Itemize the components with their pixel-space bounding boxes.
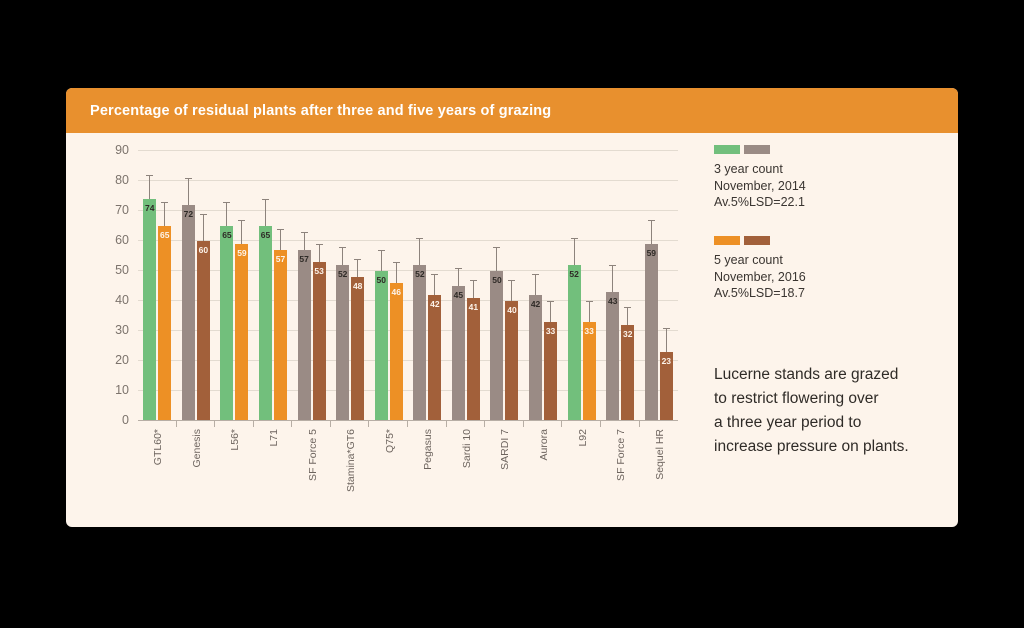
bar-value-label: 42 xyxy=(531,299,540,309)
y-tick-label: 40 xyxy=(115,293,129,307)
x-label-cell: Sardi 10 xyxy=(447,427,486,522)
x-tick-label: GTL60* xyxy=(152,429,164,465)
bar[interactable]: 72 xyxy=(182,205,195,421)
plot-area: 0102030405060708090 74657260655965575753… xyxy=(138,151,678,421)
x-tick-label: L71 xyxy=(268,429,280,447)
legend-line-1: 5 year count xyxy=(714,252,806,269)
bar-value-label: 52 xyxy=(338,269,347,279)
error-bar-cap xyxy=(508,280,515,281)
error-bar-cap xyxy=(223,202,230,203)
legend-swatches xyxy=(714,236,806,245)
error-bar-cap xyxy=(571,238,578,239)
x-tick-label: L56* xyxy=(229,429,241,451)
bar[interactable]: 60 xyxy=(197,241,210,421)
error-bar xyxy=(304,232,305,250)
caption-text: Lucerne stands are grazed to restrict fl… xyxy=(714,363,954,459)
bar[interactable]: 43 xyxy=(606,292,619,421)
bar-group[interactable]: 6557 xyxy=(254,151,293,421)
error-bar xyxy=(627,307,628,325)
bar-value-label: 57 xyxy=(299,254,308,264)
bar-group[interactable]: 7465 xyxy=(138,151,177,421)
bar[interactable]: 52 xyxy=(413,265,426,421)
bar-value-label: 33 xyxy=(546,326,555,336)
bar-value-label: 23 xyxy=(662,356,671,366)
bar[interactable]: 57 xyxy=(298,250,311,421)
x-tick-label: Genesis xyxy=(191,429,203,468)
bar-group[interactable]: 7260 xyxy=(177,151,216,421)
bar-group[interactable]: 4233 xyxy=(524,151,563,421)
bar-group[interactable]: 4332 xyxy=(601,151,640,421)
legend-entry-3-year: 3 year count November, 2014 Av.5%LSD=22.… xyxy=(714,145,806,211)
error-bar-cap xyxy=(493,247,500,248)
bar-value-label: 57 xyxy=(276,254,285,264)
error-bar-cap xyxy=(455,268,462,269)
bar[interactable]: 53 xyxy=(313,262,326,421)
error-bar xyxy=(164,202,165,226)
bar-value-label: 48 xyxy=(353,281,362,291)
bar[interactable]: 42 xyxy=(529,295,542,421)
caption-line-3: a three year period to xyxy=(714,411,954,435)
error-bar xyxy=(574,238,575,265)
bar-chart: 0102030405060708090 74657260655965575753… xyxy=(66,133,686,527)
x-tick-label: Aurora xyxy=(538,429,550,461)
y-tick-label: 20 xyxy=(115,353,129,367)
x-label-cell: Sequel HR xyxy=(640,427,679,522)
bar-value-label: 65 xyxy=(222,230,231,240)
bar-value-label: 50 xyxy=(377,275,386,285)
error-bar xyxy=(396,262,397,283)
bar-value-label: 45 xyxy=(454,290,463,300)
x-tick-label: Pegasus xyxy=(422,429,434,470)
bar-groups: 7465726065596557575352485046524245415040… xyxy=(138,151,678,421)
error-bar xyxy=(612,265,613,292)
error-bar-cap xyxy=(416,238,423,239)
panel-body: 0102030405060708090 74657260655965575753… xyxy=(66,133,958,527)
error-bar xyxy=(511,280,512,301)
error-bar-cap xyxy=(532,274,539,275)
bar-value-label: 42 xyxy=(430,299,439,309)
y-tick-label: 0 xyxy=(122,413,129,427)
y-tick-label: 90 xyxy=(115,143,129,157)
legend-line-2: November, 2016 xyxy=(714,269,806,286)
error-bar xyxy=(241,220,242,244)
bar[interactable]: 65 xyxy=(259,226,272,421)
error-bar xyxy=(381,250,382,271)
x-tick-label: Stamina*GT6 xyxy=(345,429,357,492)
x-label-cell: L56* xyxy=(215,427,254,522)
x-label-cell: SF Force 5 xyxy=(292,427,331,522)
error-bar-cap xyxy=(354,259,361,260)
error-bar xyxy=(419,238,420,265)
error-bar xyxy=(280,229,281,250)
error-bar-cap xyxy=(378,250,385,251)
error-bar xyxy=(666,328,667,352)
legend-swatch-brown xyxy=(744,236,770,245)
x-label-cell: L92 xyxy=(562,427,601,522)
bar[interactable]: 42 xyxy=(428,295,441,421)
y-tick-label: 70 xyxy=(115,203,129,217)
error-bar-cap xyxy=(339,247,346,248)
error-bar xyxy=(357,259,358,277)
x-label-cell: Aurora xyxy=(524,427,563,522)
legend-entry-5-year: 5 year count November, 2016 Av.5%LSD=18.… xyxy=(714,236,806,302)
error-bar xyxy=(149,175,150,199)
error-bar xyxy=(458,268,459,286)
bar[interactable]: 33 xyxy=(583,322,596,421)
error-bar-cap xyxy=(547,301,554,302)
y-tick-label: 80 xyxy=(115,173,129,187)
error-bar-cap xyxy=(301,232,308,233)
x-tick-label: Q75* xyxy=(384,429,396,453)
legend-line-3: Av.5%LSD=22.1 xyxy=(714,194,806,211)
legend-swatch-green xyxy=(714,145,740,154)
error-bar xyxy=(226,202,227,226)
chart-side-panel: 3 year count November, 2014 Av.5%LSD=22.… xyxy=(714,133,958,527)
error-bar-cap xyxy=(277,229,284,230)
legend-swatches xyxy=(714,145,806,154)
x-label-cell: L71 xyxy=(254,427,293,522)
bar[interactable]: 45 xyxy=(452,286,465,421)
panel-header: Percentage of residual plants after thre… xyxy=(66,88,958,133)
y-tick-label: 10 xyxy=(115,383,129,397)
x-tick-label: SF Force 5 xyxy=(307,429,319,481)
bar-group[interactable]: 5046 xyxy=(369,151,408,421)
bar-value-label: 59 xyxy=(237,248,246,258)
bar[interactable]: 74 xyxy=(143,199,156,421)
error-bar-cap xyxy=(431,274,438,275)
legend-swatch-orange xyxy=(714,236,740,245)
bar[interactable]: 33 xyxy=(544,322,557,421)
bar-value-label: 50 xyxy=(492,275,501,285)
x-label-cell: Pegasus xyxy=(408,427,447,522)
x-tick-label: SF Force 7 xyxy=(615,429,627,481)
page-title: Percentage of residual plants after thre… xyxy=(90,103,551,119)
bar-group[interactable]: 5923 xyxy=(640,151,679,421)
bar[interactable]: 48 xyxy=(351,277,364,421)
bar-value-label: 65 xyxy=(160,230,169,240)
error-bar xyxy=(188,178,189,205)
x-label-cell: Q75* xyxy=(369,427,408,522)
error-bar-cap xyxy=(185,178,192,179)
error-bar-cap xyxy=(663,328,670,329)
error-bar-cap xyxy=(161,202,168,203)
x-tick-label: SARDI 7 xyxy=(499,429,511,470)
y-tick-label: 30 xyxy=(115,323,129,337)
bar[interactable]: 52 xyxy=(336,265,349,421)
bar[interactable]: 41 xyxy=(467,298,480,421)
x-label-cell: Stamina*GT6 xyxy=(331,427,370,522)
error-bar-cap xyxy=(262,199,269,200)
bar[interactable]: 40 xyxy=(505,301,518,421)
x-tick-label: Sardi 10 xyxy=(461,429,473,468)
x-label-cell: SARDI 7 xyxy=(485,427,524,522)
bar[interactable]: 52 xyxy=(568,265,581,421)
bar-value-label: 40 xyxy=(507,305,516,315)
bar[interactable]: 46 xyxy=(390,283,403,421)
legend-line-3: Av.5%LSD=18.7 xyxy=(714,285,806,302)
y-tick-label: 50 xyxy=(115,263,129,277)
x-tick-label: Sequel HR xyxy=(654,429,666,480)
screenshot-root: Percentage of residual plants after thre… xyxy=(0,0,1024,628)
bar-group[interactable]: 5040 xyxy=(485,151,524,421)
error-bar-cap xyxy=(200,214,207,215)
bar-value-label: 41 xyxy=(469,302,478,312)
bar[interactable]: 50 xyxy=(375,271,388,421)
bar-value-label: 74 xyxy=(145,203,154,213)
bar-value-label: 52 xyxy=(569,269,578,279)
error-bar-cap xyxy=(238,220,245,221)
x-label-cell: Genesis xyxy=(177,427,216,522)
bar-value-label: 52 xyxy=(415,269,424,279)
error-bar-cap xyxy=(648,220,655,221)
bar-value-label: 32 xyxy=(623,329,632,339)
error-bar-cap xyxy=(393,262,400,263)
bar[interactable]: 23 xyxy=(660,352,673,421)
error-bar-cap xyxy=(609,265,616,266)
caption-line-1: Lucerne stands are grazed xyxy=(714,363,954,387)
caption-line-4: increase pressure on plants. xyxy=(714,435,954,459)
bar[interactable]: 50 xyxy=(490,271,503,421)
legend-swatch-grey xyxy=(744,145,770,154)
error-bar xyxy=(203,214,204,241)
x-tick-label: L92 xyxy=(577,429,589,447)
bar-group[interactable]: 4541 xyxy=(447,151,486,421)
x-label-cell: GTL60* xyxy=(138,427,177,522)
error-bar-cap xyxy=(586,301,593,302)
error-bar-cap xyxy=(146,175,153,176)
error-bar xyxy=(550,301,551,322)
bar-value-label: 65 xyxy=(261,230,270,240)
bar[interactable]: 57 xyxy=(274,250,287,421)
error-bar xyxy=(473,280,474,298)
y-tick-label: 60 xyxy=(115,233,129,247)
x-axis-line xyxy=(138,420,678,421)
legend-line-2: November, 2014 xyxy=(714,178,806,195)
error-bar xyxy=(319,244,320,262)
legend-line-1: 3 year count xyxy=(714,161,806,178)
error-bar xyxy=(265,199,266,226)
bar[interactable]: 65 xyxy=(158,226,171,421)
bar[interactable]: 32 xyxy=(621,325,634,421)
bar[interactable]: 59 xyxy=(645,244,658,421)
x-axis-labels: GTL60*GenesisL56*L71SF Force 5Stamina*GT… xyxy=(138,427,678,522)
bar-value-label: 46 xyxy=(392,287,401,297)
error-bar xyxy=(342,247,343,265)
bar-value-label: 60 xyxy=(199,245,208,255)
bar-value-label: 59 xyxy=(647,248,656,258)
bar-group[interactable]: 6559 xyxy=(215,151,254,421)
error-bar xyxy=(434,274,435,295)
bar-group[interactable]: 5242 xyxy=(408,151,447,421)
error-bar xyxy=(535,274,536,295)
bar-value-label: 53 xyxy=(314,266,323,276)
bar-value-label: 33 xyxy=(584,326,593,336)
error-bar xyxy=(651,220,652,244)
error-bar-cap xyxy=(470,280,477,281)
x-label-cell: SF Force 7 xyxy=(601,427,640,522)
bar-group[interactable]: 5753 xyxy=(292,151,331,421)
error-bar xyxy=(496,247,497,271)
caption-line-2: to restrict flowering over xyxy=(714,387,954,411)
error-bar-cap xyxy=(316,244,323,245)
bar[interactable]: 65 xyxy=(220,226,233,421)
bar-group[interactable]: 5233 xyxy=(562,151,601,421)
bar-value-label: 43 xyxy=(608,296,617,306)
bar-value-label: 72 xyxy=(184,209,193,219)
bar-group[interactable]: 5248 xyxy=(331,151,370,421)
error-bar xyxy=(589,301,590,322)
chart-panel: Percentage of residual plants after thre… xyxy=(66,88,958,527)
error-bar-cap xyxy=(624,307,631,308)
bar[interactable]: 59 xyxy=(235,244,248,421)
